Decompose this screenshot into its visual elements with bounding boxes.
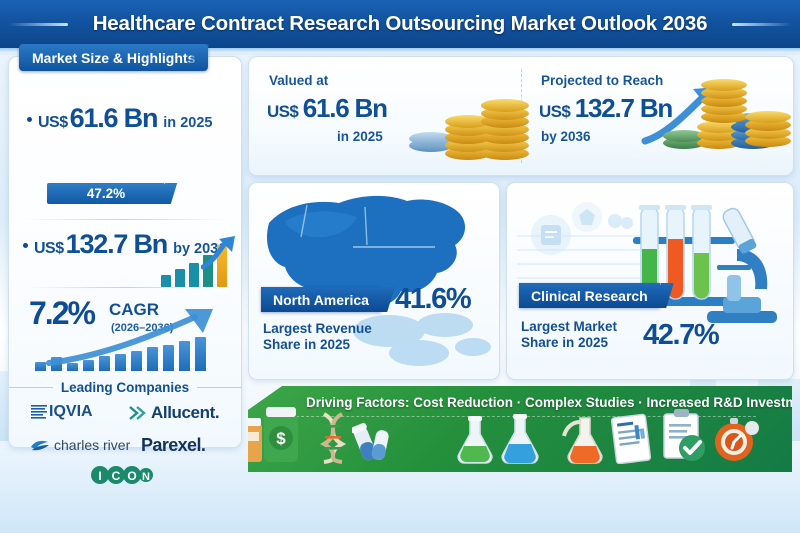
segment-percent: 42.7% [643,319,718,352]
cagr-bar-chart [35,337,225,371]
region-percent: 41.6% [395,283,470,316]
company-name: Parexel. [141,435,205,456]
bullet-dot-icon [27,117,32,122]
market-size-panel: Market Size & Highlights US$ 61.6 Bn in … [8,56,242,448]
stat-2036-value: 132.7 Bn [66,229,167,260]
divider-1 [25,219,225,220]
company-name: Allucent. [151,403,219,423]
clipboard-check-icon [658,408,708,464]
leading-companies-header: Leading Companies [9,379,241,395]
company-logo-charles-river[interactable]: charles river [29,437,130,453]
segment-share-panel: Clinical Research Largest Market Share i… [506,182,794,380]
region-tag: North America [261,287,381,312]
icon-plc-logo-icon: I C O N [91,465,153,485]
market-size-section-title: Market Size & Highlights [19,44,208,71]
flask-blue-icon [498,414,542,464]
region-share-panel: North America Largest Revenue Share in 2… [248,182,500,380]
growth-mini-bar-chart [161,243,237,287]
bullet-dot-icon [23,243,28,248]
driving-factors-banner: Driving Factors: Cost Reduction · Comple… [248,386,792,472]
header-bar: Healthcare Contract Research Outsourcing… [0,0,800,48]
company-logo-icon[interactable]: I C O N [91,465,153,485]
growth-arrow-icon [201,233,241,273]
microscope-icon [693,205,789,333]
svg-text:O: O [127,469,136,483]
segment-subtitle-line1: Largest Market [521,319,617,334]
segment-tag: Clinical Research [519,283,660,308]
card-kicker: Valued at [269,73,328,88]
region-subtitle-line2: Share in 2025 [263,337,350,352]
cagr-trend-arrow-icon [45,307,231,369]
region-subtitle: Largest Revenue Share in 2025 [263,321,372,353]
svg-text:C: C [112,469,121,483]
page-title: Healthcare Contract Research Outsourcing… [0,0,800,48]
leading-companies-title: Leading Companies [53,380,197,395]
svg-text:N: N [142,471,150,483]
stat-2036-currency: US$ [34,240,64,258]
company-name: charles river [54,437,130,453]
card-period: by 2036 [541,129,591,144]
card-main-value: US$ 61.6 Bn [267,93,387,124]
lc-rule-right [197,387,241,388]
dna-helix-icon [316,412,350,464]
iqvia-logo-icon [31,404,49,420]
flask-green-icon [454,416,496,464]
value-cards-panel: Valued at US$ 61.6 Bn in 2025 [248,56,794,176]
infographic-canvas: Healthcare Contract Research Outsourcing… [0,0,800,533]
vial-icon [352,420,392,464]
company-name: IQVIA [49,403,93,421]
stopwatch-icon [710,414,760,464]
card-value: 61.6 Bn [303,93,387,123]
growth-percent-badge: 47.2% [47,183,165,204]
divider-2 [25,287,225,288]
segment-subtitle: Largest Market Share in 2025 [521,319,617,351]
lc-rule-left [9,387,53,388]
company-logo-iqvia[interactable]: IQVIA [31,403,93,421]
card-currency: US$ [267,102,298,121]
company-logo-parexel[interactable]: Parexel. [141,435,205,456]
allucent-logo-icon [129,406,151,420]
document-report-icon [610,408,656,464]
chart-lines-decoration-icon [517,229,647,287]
pill-bottle-dollar-icon: $ [248,406,316,464]
card-period: in 2025 [337,129,383,144]
stat-2025-currency: US$ [38,114,68,132]
stat-2025-value: 61.6 Bn [70,103,158,134]
cagr-block: 7.2% CAGR (2026–2036) [21,293,229,371]
svg-text:$: $ [276,429,286,448]
segment-subtitle-line2: Share in 2025 [521,335,608,350]
driving-factors-title: Driving Factors: Cost Reduction · Comple… [306,395,792,410]
card-currency: US$ [539,102,570,121]
company-logo-allucent[interactable]: Allucent. [129,403,219,423]
charles-river-logo-icon [29,438,51,452]
stat-2025-period: in 2025 [163,115,212,131]
region-subtitle-line1: Largest Revenue [263,321,372,336]
svg-text:I: I [98,469,101,483]
flask-orange-icon [560,414,608,464]
stat-2025-row: US$ 61.6 Bn in 2025 [27,103,212,134]
